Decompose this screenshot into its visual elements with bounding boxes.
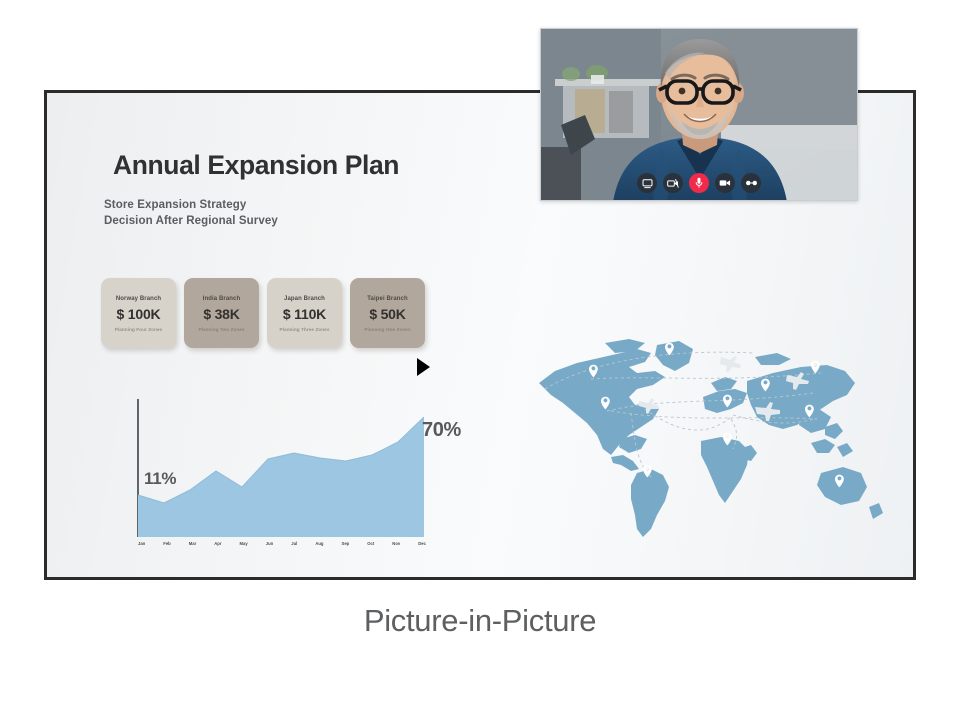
- subtitle-line-1: Store Expansion Strategy: [104, 198, 278, 214]
- figure-caption: Picture-in-Picture: [0, 603, 960, 639]
- page-title: Annual Expansion Plan: [113, 150, 399, 181]
- chart-start-label: 11%: [144, 469, 176, 489]
- chart-x-tick: Mar: [189, 541, 196, 546]
- branch-value: $ 100K: [117, 306, 161, 322]
- chart-x-tick: Aug: [315, 541, 323, 546]
- chart-area-fill: [138, 417, 424, 537]
- branch-name: India Branch: [203, 296, 241, 302]
- branch-value: $ 110K: [283, 306, 326, 322]
- slide-subtitle: Store Expansion Strategy Decision After …: [104, 198, 278, 229]
- branch-card-list: Norway Branch $ 100K Planning Four Zones…: [101, 278, 425, 348]
- camera-off-icon[interactable]: [663, 173, 683, 193]
- chart-x-tick: Jun: [266, 541, 273, 546]
- chart-x-tick-labels: Jan Feb Mar Apr May Jun Jul Aug Sep Oct …: [138, 541, 426, 546]
- glasses-icon[interactable]: [741, 173, 761, 193]
- chart-x-tick: Jul: [291, 541, 297, 546]
- chart-end-label: 70%: [422, 419, 461, 442]
- microphone-icon[interactable]: [689, 173, 709, 193]
- screenshot-root: Annual Expansion Plan Store Expansion St…: [0, 0, 960, 720]
- chart-x-tick: Oct: [367, 541, 374, 546]
- branch-value: $ 38K: [203, 306, 239, 322]
- chart-x-tick: Feb: [163, 541, 170, 546]
- chart-x-tick: May: [240, 541, 248, 546]
- growth-area-chart: 11% 70% Jan Feb Mar Apr May Jun Jul Aug …: [91, 391, 436, 556]
- branch-name: Norway Branch: [116, 296, 161, 302]
- video-camera-icon[interactable]: [715, 173, 735, 193]
- world-map-svg: [525, 331, 916, 561]
- branch-card[interactable]: Norway Branch $ 100K Planning Four Zones: [101, 278, 176, 348]
- branch-note: Planning One Zones: [364, 327, 410, 332]
- world-map: [525, 331, 916, 561]
- chart-x-tick: Nov: [392, 541, 400, 546]
- branch-note: Planning Two Zones: [198, 327, 244, 332]
- picture-in-picture-window[interactable]: [540, 28, 858, 201]
- branch-card[interactable]: Taipei Branch $ 50K Planning One Zones: [350, 278, 425, 348]
- branch-name: Japan Branch: [284, 296, 325, 302]
- chart-svg: [91, 391, 436, 556]
- chart-x-tick: Sep: [342, 541, 350, 546]
- screen-share-icon[interactable]: [637, 173, 657, 193]
- subtitle-line-2: Decision After Regional Survey: [104, 214, 278, 230]
- branch-card[interactable]: India Branch $ 38K Planning Two Zones: [184, 278, 259, 348]
- chart-x-tick: Dec: [418, 541, 426, 546]
- chart-x-tick: Apr: [214, 541, 221, 546]
- chart-x-tick: Jan: [138, 541, 145, 546]
- video-call-controls: [541, 173, 857, 193]
- branch-note: Planning Four Zones: [115, 327, 163, 332]
- branch-note: Planning Three Zones: [280, 327, 330, 332]
- play-cursor-icon: [417, 358, 430, 376]
- branch-card[interactable]: Japan Branch $ 110K Planning Three Zones: [267, 278, 342, 348]
- branch-name: Taipei Branch: [367, 296, 408, 302]
- branch-value: $ 50K: [369, 306, 405, 322]
